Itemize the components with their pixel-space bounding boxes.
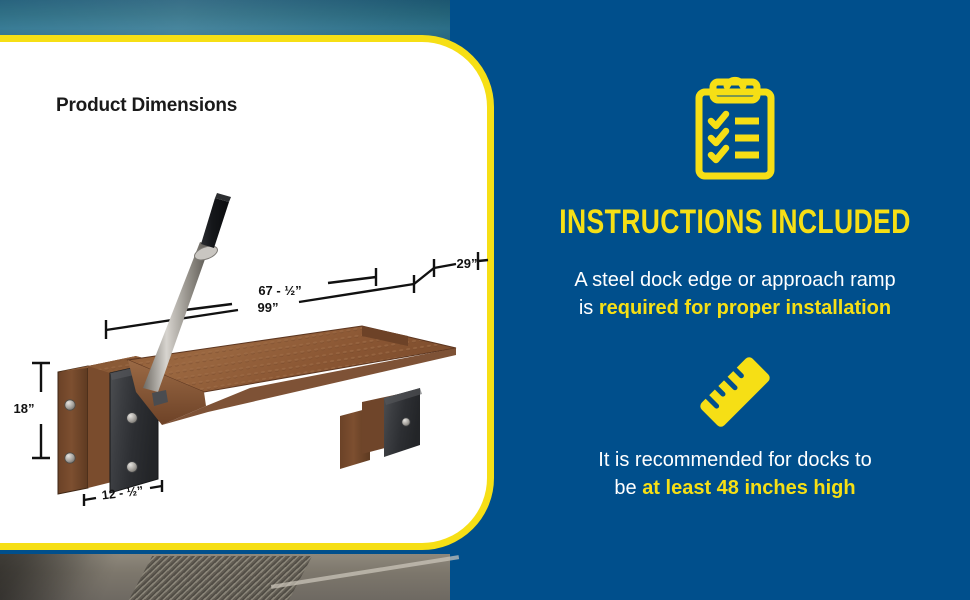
- paragraph-2-line-1: It is recommended for docks to: [598, 449, 871, 471]
- headline-instructions-included: INSTRUCTIONS INCLUDED: [552, 203, 919, 242]
- dimension-label-depth: 29”: [457, 256, 478, 271]
- ground-gravel-seam: [128, 556, 312, 600]
- page-title: Product Dimensions: [56, 95, 237, 117]
- dimension-label-height: 18”: [14, 401, 35, 416]
- clipboard-icon-container: [500, 76, 970, 185]
- paragraph-dock-height: It is recommended for docks to be at lea…: [535, 446, 935, 502]
- clipboard-checklist-icon: [693, 76, 777, 180]
- paragraph-1-line-2-lead: is: [579, 297, 599, 319]
- product-diagram: 67 - ½” 99” 29” 18” 12 - ½”: [10, 140, 490, 530]
- dimension-label-width: 99”: [258, 300, 279, 315]
- background-photo-ground: [0, 554, 450, 600]
- ruler-icon-container: [500, 352, 970, 437]
- dimension-label-handle-length: 67 - ½”: [258, 283, 301, 298]
- left-panel: Product Dimensions: [0, 0, 520, 600]
- paragraph-installation: A steel dock edge or approach ramp is re…: [535, 266, 935, 322]
- paragraph-1-line-1: A steel dock edge or approach ramp: [574, 269, 895, 291]
- paragraph-2-line-2-lead: be: [614, 477, 642, 499]
- dimension-label-bumper: 12 - ½”: [101, 484, 144, 503]
- paragraph-2-highlight: at least 48 inches high: [642, 477, 855, 499]
- ruler-icon: [693, 352, 777, 432]
- right-panel: INSTRUCTIONS INCLUDED A steel dock edge …: [500, 0, 970, 600]
- product-feature-banner: Product Dimensions: [0, 0, 970, 600]
- paragraph-1-highlight: required for proper installation: [599, 297, 891, 319]
